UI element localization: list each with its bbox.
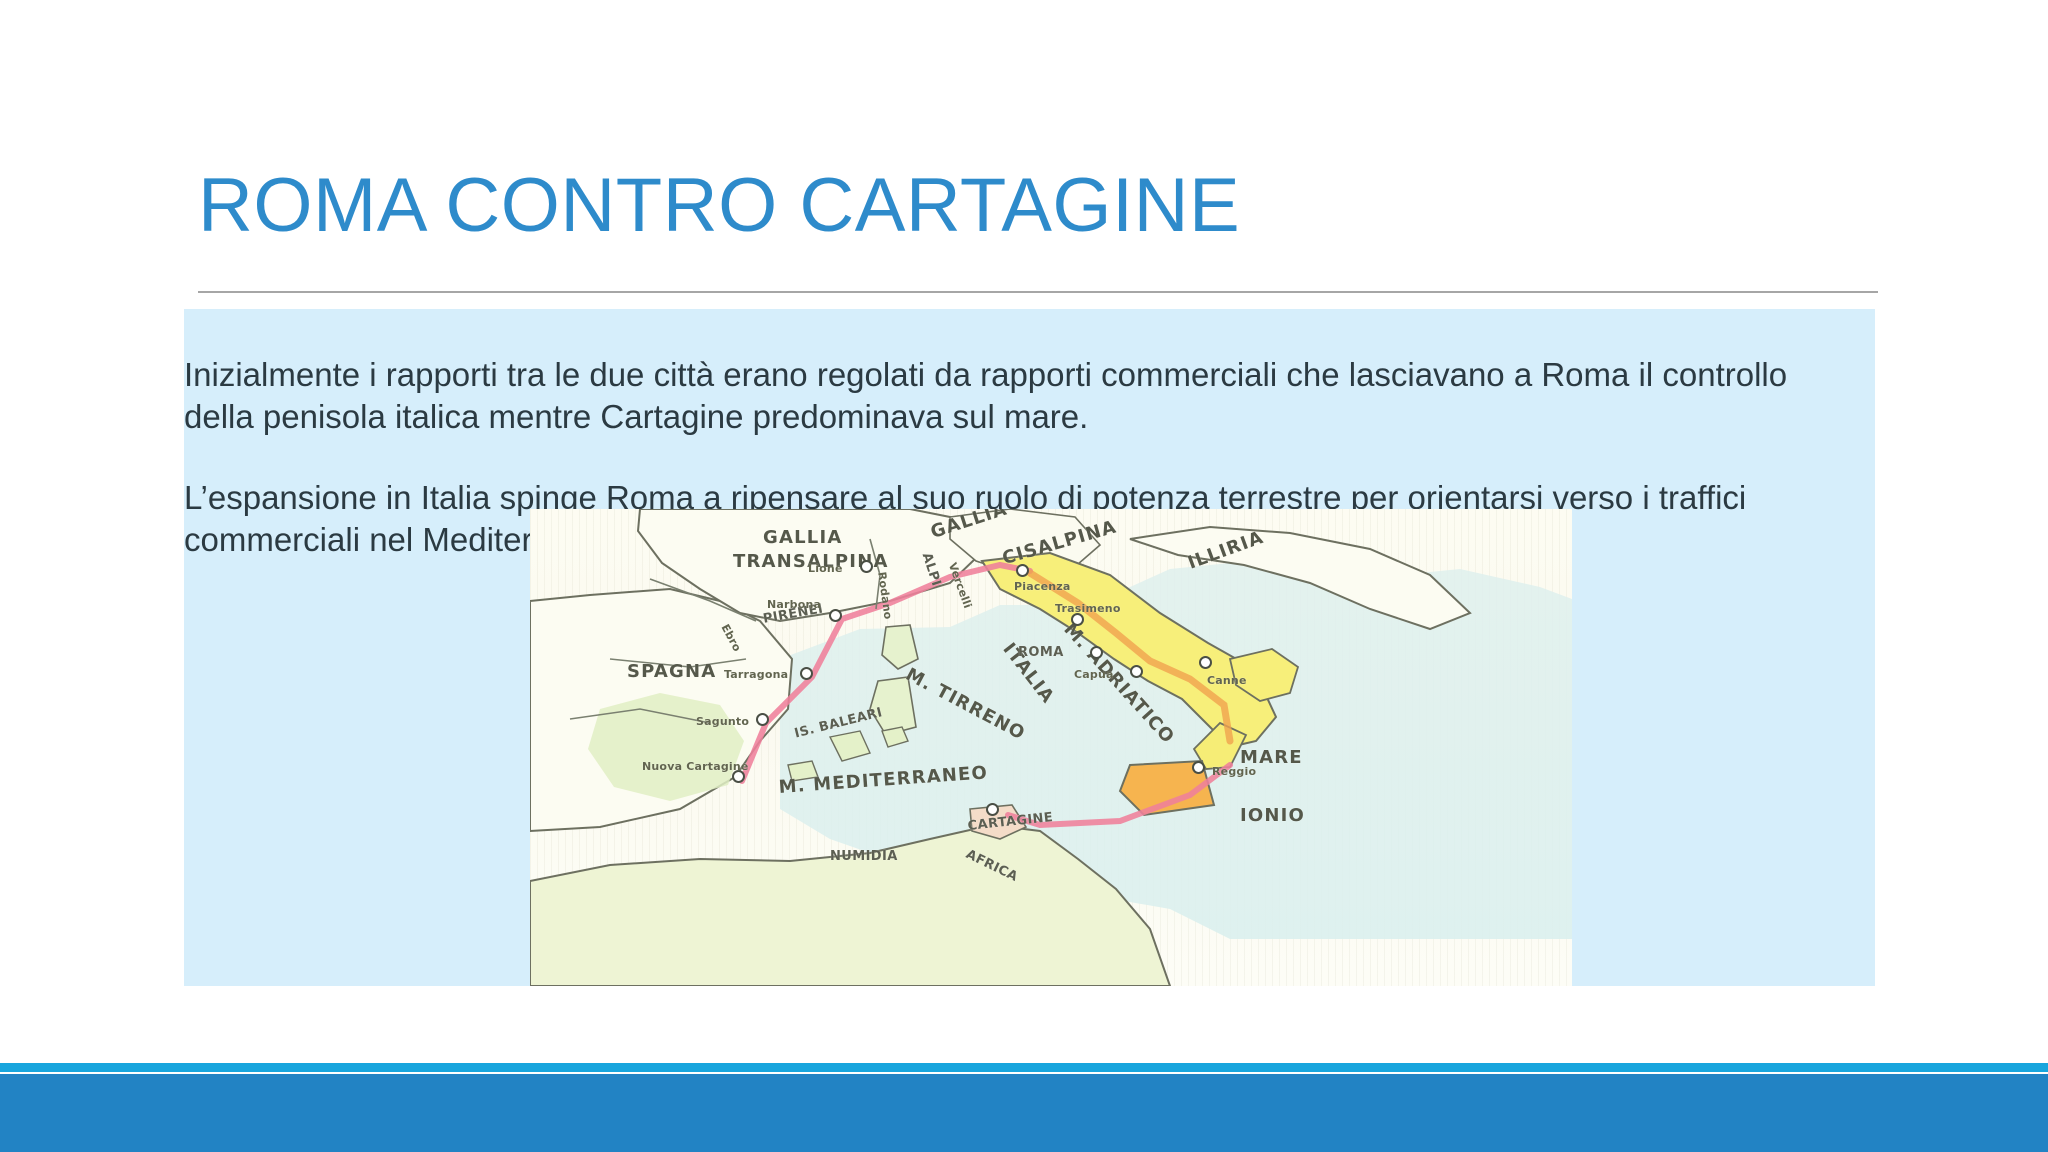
footer-accent-bar-dark xyxy=(0,1074,2048,1152)
map-label-layer: GALLIATRANSALPINAGALLIACISALPINAILLIRIAM… xyxy=(530,509,1572,986)
map-city-marker xyxy=(829,609,842,622)
map-region-label: M. ADRIATICO xyxy=(1059,619,1178,748)
map-city-marker xyxy=(1199,656,1212,669)
map-region-label: CISALPINA xyxy=(1000,516,1119,569)
map-region-label: CARTAGINE xyxy=(967,810,1054,834)
map-city-label: Capua xyxy=(1074,668,1114,681)
map-city-label: Reggio xyxy=(1212,765,1256,778)
title-divider xyxy=(198,291,1878,293)
map-city-label: Trasimeno xyxy=(1055,602,1121,615)
map-city-label: Piacenza xyxy=(1014,580,1071,593)
map-region-label: AFRICA xyxy=(963,847,1020,885)
map-city-marker xyxy=(1016,564,1029,577)
map-city-label: Tarragona xyxy=(724,668,788,681)
map-region-label: Vercelli xyxy=(946,561,975,610)
footer-accent-bar-light xyxy=(0,1063,2048,1072)
map-region-label: GALLIA xyxy=(763,527,842,548)
map-city-label: Lione xyxy=(808,562,843,575)
map-city-marker xyxy=(1192,761,1205,774)
map-city-label: ROMA xyxy=(1018,645,1064,660)
map-city-marker xyxy=(800,667,813,680)
map-region-label: GALLIA xyxy=(928,509,1010,543)
map-city-label: Nuova Cartagine xyxy=(642,760,749,773)
map-city-marker xyxy=(860,560,873,573)
map-city-label: Narbona xyxy=(767,598,821,611)
page-title: ROMA CONTRO CARTAGINE xyxy=(198,168,1888,244)
map-city-label: Sagunto xyxy=(696,715,749,728)
map-city-marker xyxy=(986,803,999,816)
map-region-label: IS. BALEARI xyxy=(793,705,884,741)
map-city-marker xyxy=(756,713,769,726)
map-region-label: ALPI xyxy=(919,551,944,588)
historical-map-image: GALLIATRANSALPINAGALLIACISALPINAILLIRIAM… xyxy=(530,509,1572,986)
map-region-label: Ebro xyxy=(719,622,744,654)
map-region-label: SPAGNA xyxy=(627,661,716,682)
map-region-label: M. MEDITERRANEO xyxy=(778,762,989,798)
map-region-label: Rodano xyxy=(875,571,895,620)
map-city-label: Canne xyxy=(1207,674,1247,687)
map-region-label: ILLIRIA xyxy=(1185,527,1267,574)
map-region-label: M. TIRRENO xyxy=(902,664,1029,745)
map-region-label: IONIO xyxy=(1240,805,1305,826)
map-city-marker xyxy=(1130,665,1143,678)
body-paragraph-1: Inizialmente i rapporti tra le due città… xyxy=(184,354,1844,438)
map-city-marker xyxy=(1090,646,1103,659)
map-region-label: NUMIDIA xyxy=(830,849,898,864)
